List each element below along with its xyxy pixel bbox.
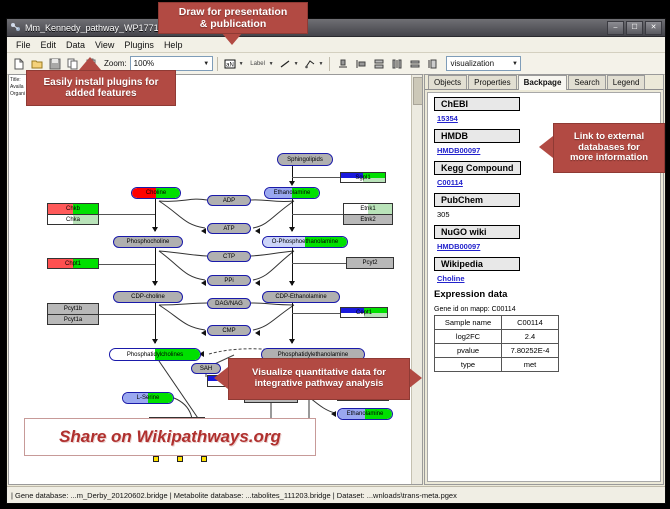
zoom-combobox[interactable]: 100% ▼: [130, 56, 213, 71]
node-cmp[interactable]: CMP: [207, 325, 251, 336]
callout-pointer-left: [539, 136, 553, 158]
database-link[interactable]: Choline: [437, 274, 465, 283]
draw-callout: Draw for presentation & publication: [158, 2, 308, 34]
node-chka[interactable]: Chka: [47, 214, 99, 225]
menu-item-file[interactable]: File: [11, 39, 36, 51]
database-value: 305: [437, 210, 450, 219]
status-bar-text: | Gene database: ...m_Derby_20120602.bri…: [11, 491, 457, 500]
chevron-down-icon: ▼: [319, 61, 324, 67]
arrow-icon: [152, 281, 158, 286]
table-cell-key: log2FC: [435, 330, 502, 344]
edge: [155, 248, 156, 285]
database-name: Kegg Compound: [434, 161, 521, 175]
pathway-title-label: Title:: [10, 77, 25, 84]
label-icon[interactable]: Label: [247, 55, 269, 72]
node-label: Phosphatidylethanolamine: [278, 352, 348, 358]
window-controls: – ☐ ✕: [607, 21, 662, 35]
node-etnk1[interactable]: Etnk1: [343, 203, 393, 214]
selection-handle[interactable]: [153, 456, 159, 462]
callout-pointer-up: [79, 57, 101, 70]
node-label: O-Phosphoethanolamine: [272, 239, 338, 245]
node-label: Ethanolamine: [347, 411, 384, 417]
table-cell-value: met: [502, 358, 559, 372]
node-label: Sphingolipids: [287, 157, 323, 163]
arrow-icon: [331, 411, 336, 417]
share-text: Share on Wikipathways.org: [59, 427, 281, 447]
interaction-icon[interactable]: [302, 55, 319, 72]
gene-id-line: Gene id on mapp: C00114: [434, 306, 654, 313]
close-button[interactable]: ✕: [645, 21, 662, 35]
screenshot-root: Mm_Kennedy_pathway_WP1771_45176.gpml – ☐…: [0, 0, 670, 509]
node-pcyt2[interactable]: Pcyt2: [346, 257, 394, 269]
node-choline-top[interactable]: Choline: [131, 187, 181, 199]
node-label: CMP: [222, 328, 235, 334]
pathway-availability-label: Availa: [10, 84, 25, 91]
database-name: HMDB: [434, 129, 520, 143]
node-sphingolipids[interactable]: Sphingolipids: [277, 153, 333, 166]
pathway-info-labels: Title: Availa Organi: [10, 77, 25, 98]
scrollbar-thumb[interactable]: [413, 77, 423, 105]
table-row: type met: [435, 358, 559, 372]
table-row: Sample name C00114: [435, 316, 559, 330]
node-ctp[interactable]: CTP: [207, 251, 251, 262]
database-name: ChEBI: [434, 97, 520, 111]
link-callout: Link to external databases for more info…: [553, 123, 665, 173]
node-label: CTP: [223, 254, 235, 260]
database-entry-wikipedia: Wikipedia Choline: [434, 257, 654, 283]
database-entry-nugo: NuGO wiki HMDB00097: [434, 225, 654, 251]
tab-properties[interactable]: Properties: [468, 75, 516, 89]
callout-line: integrative pathway analysis: [255, 379, 384, 390]
datanode-dropdown[interactable]: aN ▼: [222, 55, 246, 72]
edge: [292, 263, 346, 264]
edge: [292, 313, 340, 314]
table-cell-key: pvalue: [435, 344, 502, 358]
align-top-icon[interactable]: [334, 55, 351, 72]
callout-line: & publication: [200, 18, 267, 30]
arrow-icon: [289, 181, 295, 186]
node-adp[interactable]: ADP: [207, 195, 251, 206]
arrow-icon: [255, 330, 260, 336]
status-bar: | Gene database: ...m_Derby_20120602.bri…: [7, 486, 665, 503]
common-height-icon[interactable]: [424, 55, 441, 72]
callout-pointer-left: [214, 367, 228, 389]
node-dag-nag[interactable]: DAG/NAG: [207, 298, 251, 309]
arrow-icon: [201, 228, 206, 234]
node-label: Ethanolamine: [274, 190, 311, 196]
tab-objects[interactable]: Objects: [428, 75, 467, 89]
arrow-icon: [289, 281, 295, 286]
visualize-callout: Visualize quantitative data for integrat…: [228, 358, 410, 400]
selection-handle[interactable]: [177, 456, 183, 462]
expression-data-title: Expression data: [434, 289, 654, 300]
database-link[interactable]: C00114: [437, 178, 463, 187]
maximize-button[interactable]: ☐: [626, 21, 643, 35]
pathway-organism-label: Organi: [10, 91, 25, 98]
edge: [292, 248, 293, 285]
menu-item-edit[interactable]: Edit: [36, 39, 62, 51]
node-label: Etnk1: [360, 206, 375, 212]
node-label: SAH: [200, 366, 212, 372]
menu-item-help[interactable]: Help: [159, 39, 188, 51]
expression-table: Sample name C00114 log2FC 2.4 pvalue 7.8…: [434, 315, 559, 372]
node-label: Sgpl1: [355, 175, 370, 181]
node-ethanolamine-bottom[interactable]: Ethanolamine: [337, 408, 393, 420]
node-label: Pcyt2: [362, 260, 377, 266]
stack-icon[interactable]: [370, 55, 387, 72]
database-link[interactable]: HMDB00097: [437, 146, 480, 155]
edge: [99, 214, 155, 215]
node-chkb[interactable]: Chkb: [47, 203, 99, 214]
tab-legend[interactable]: Legend: [607, 75, 646, 89]
arrow-icon: [289, 227, 295, 232]
arrow-icon: [289, 339, 295, 344]
common-width-icon[interactable]: [406, 55, 423, 72]
node-sgpl1[interactable]: Sgpl1: [340, 172, 386, 183]
node-label: Cept1: [356, 310, 372, 316]
database-entry-pubchem: PubChem 305: [434, 193, 654, 219]
node-atp[interactable]: ATP: [207, 223, 251, 234]
tab-backpage[interactable]: Backpage: [518, 75, 568, 90]
distribute-icon[interactable]: [388, 55, 405, 72]
menu-item-data[interactable]: Data: [61, 39, 90, 51]
line-icon[interactable]: [277, 55, 294, 72]
node-label: PPi: [224, 278, 233, 284]
database-link[interactable]: 15354: [437, 114, 458, 123]
node-phosphatidylcholines[interactable]: Phosphatidylcholines: [109, 348, 201, 361]
zoom-value: 100%: [134, 59, 154, 68]
pathvisio-icon: [10, 22, 21, 33]
chevron-down-icon: ▼: [269, 61, 274, 67]
database-entry-chebi: ChEBI 15354: [434, 97, 654, 123]
node-chpt1[interactable]: Chpt1: [47, 258, 99, 269]
node-label: Chpt1: [65, 261, 81, 267]
node-label: Phosphatidylcholines: [127, 352, 183, 358]
edge: [292, 214, 343, 215]
edge: [99, 314, 155, 315]
zoom-label: Zoom:: [104, 59, 127, 68]
node-cdp-ethanolamine[interactable]: CDP-Ethanolamine: [262, 291, 340, 303]
arrow-icon: [201, 280, 206, 286]
node-label: Choline: [146, 190, 166, 196]
node-label: Pcyt1a: [64, 317, 82, 323]
menu-item-view[interactable]: View: [90, 39, 119, 51]
label-dropdown[interactable]: Label ▼: [247, 55, 276, 72]
arrow-icon: [201, 330, 206, 336]
table-cell-value: 7.80252E-4: [502, 344, 559, 358]
edge: [99, 264, 155, 265]
node-label: ATP: [223, 226, 234, 232]
arrow-icon: [152, 339, 158, 344]
datanode-icon[interactable]: aN: [222, 55, 239, 72]
node-label: DAG/NAG: [215, 301, 243, 307]
chevron-down-icon: ▼: [509, 58, 520, 69]
chevron-down-icon: ▼: [294, 61, 299, 67]
node-l-serine-left[interactable]: L-Serine: [122, 392, 174, 404]
node-label: ADP: [223, 198, 235, 204]
node-cept1[interactable]: Cept1: [340, 307, 388, 318]
tab-search[interactable]: Search: [568, 75, 605, 89]
table-cell-key: type: [435, 358, 502, 372]
arrow-icon: [152, 227, 158, 232]
side-panel-tabs: Objects Properties Backpage Search Legen…: [425, 75, 663, 90]
line-dropdown[interactable]: ▼: [277, 55, 301, 72]
menu-bar: File Edit Data View Plugins Help: [7, 37, 665, 53]
node-pcyt1b[interactable]: Pcyt1b: [47, 303, 99, 314]
visualization-combobox[interactable]: visualization ▼: [446, 56, 521, 71]
arrow-icon: [255, 228, 260, 234]
callout-line: Draw for presentation: [179, 6, 288, 18]
node-pcyt1a[interactable]: Pcyt1a: [47, 314, 99, 325]
node-etnk2[interactable]: Etnk2: [343, 214, 393, 225]
callout-line: Easily install plugins for: [43, 77, 158, 89]
callout-line: Link to external: [574, 132, 644, 143]
toolbar-separator: [217, 57, 218, 71]
database-name: Wikipedia: [434, 257, 520, 271]
callout-line: added features: [65, 88, 136, 100]
table-row: pvalue 7.80252E-4: [435, 344, 559, 358]
toolbar-separator: [329, 57, 330, 71]
node-o-phosphoethanolamine[interactable]: O-Phosphoethanolamine: [262, 236, 348, 248]
new-icon[interactable]: [10, 55, 27, 72]
edge: [155, 303, 156, 343]
database-link[interactable]: HMDB00097: [437, 242, 480, 251]
node-label: Pcyt1b: [64, 306, 82, 312]
node-ethanolamine-top[interactable]: Ethanolamine: [264, 187, 320, 199]
minimize-button[interactable]: –: [607, 21, 624, 35]
table-cell-value: C00114: [502, 316, 559, 330]
visualization-value: visualization: [450, 59, 494, 68]
node-label: Chka: [66, 217, 80, 223]
share-callout: Share on Wikipathways.org: [24, 418, 316, 456]
chevron-down-icon: ▼: [201, 58, 212, 69]
table-row: log2FC 2.4: [435, 330, 559, 344]
edge: [292, 303, 293, 343]
arrow-icon: [255, 280, 260, 286]
table-cell-key: Sample name: [435, 316, 502, 330]
selection-handle[interactable]: [201, 456, 207, 462]
node-label: Phosphocholine: [127, 239, 170, 245]
align-left-icon[interactable]: [352, 55, 369, 72]
menu-item-plugins[interactable]: Plugins: [119, 39, 159, 51]
node-label: Chkb: [66, 206, 80, 212]
node-ppi[interactable]: PPi: [207, 275, 251, 286]
node-label: CDP-Ethanolamine: [275, 294, 326, 300]
node-cdp-choline[interactable]: CDP-choline: [113, 291, 183, 303]
database-name: PubChem: [434, 193, 520, 207]
node-label: L-Serine: [137, 395, 160, 401]
plugins-callout: Easily install plugins for added feature…: [26, 70, 176, 106]
chevron-down-icon: ▼: [239, 61, 244, 67]
callout-pointer-right: [408, 367, 422, 389]
table-cell-value: 2.4: [502, 330, 559, 344]
title-bar: Mm_Kennedy_pathway_WP1771_45176.gpml – ☐…: [7, 19, 665, 37]
interaction-dropdown[interactable]: ▼: [302, 55, 326, 72]
node-label: CDP-choline: [131, 294, 165, 300]
edge: [292, 177, 340, 178]
svg-text:aN: aN: [226, 62, 234, 68]
callout-line: more information: [570, 153, 648, 164]
canvas-vertical-scrollbar[interactable]: [411, 75, 422, 484]
database-name: NuGO wiki: [434, 225, 520, 239]
node-phosphocholine[interactable]: Phosphocholine: [113, 236, 183, 248]
node-label: Etnk2: [360, 217, 375, 223]
